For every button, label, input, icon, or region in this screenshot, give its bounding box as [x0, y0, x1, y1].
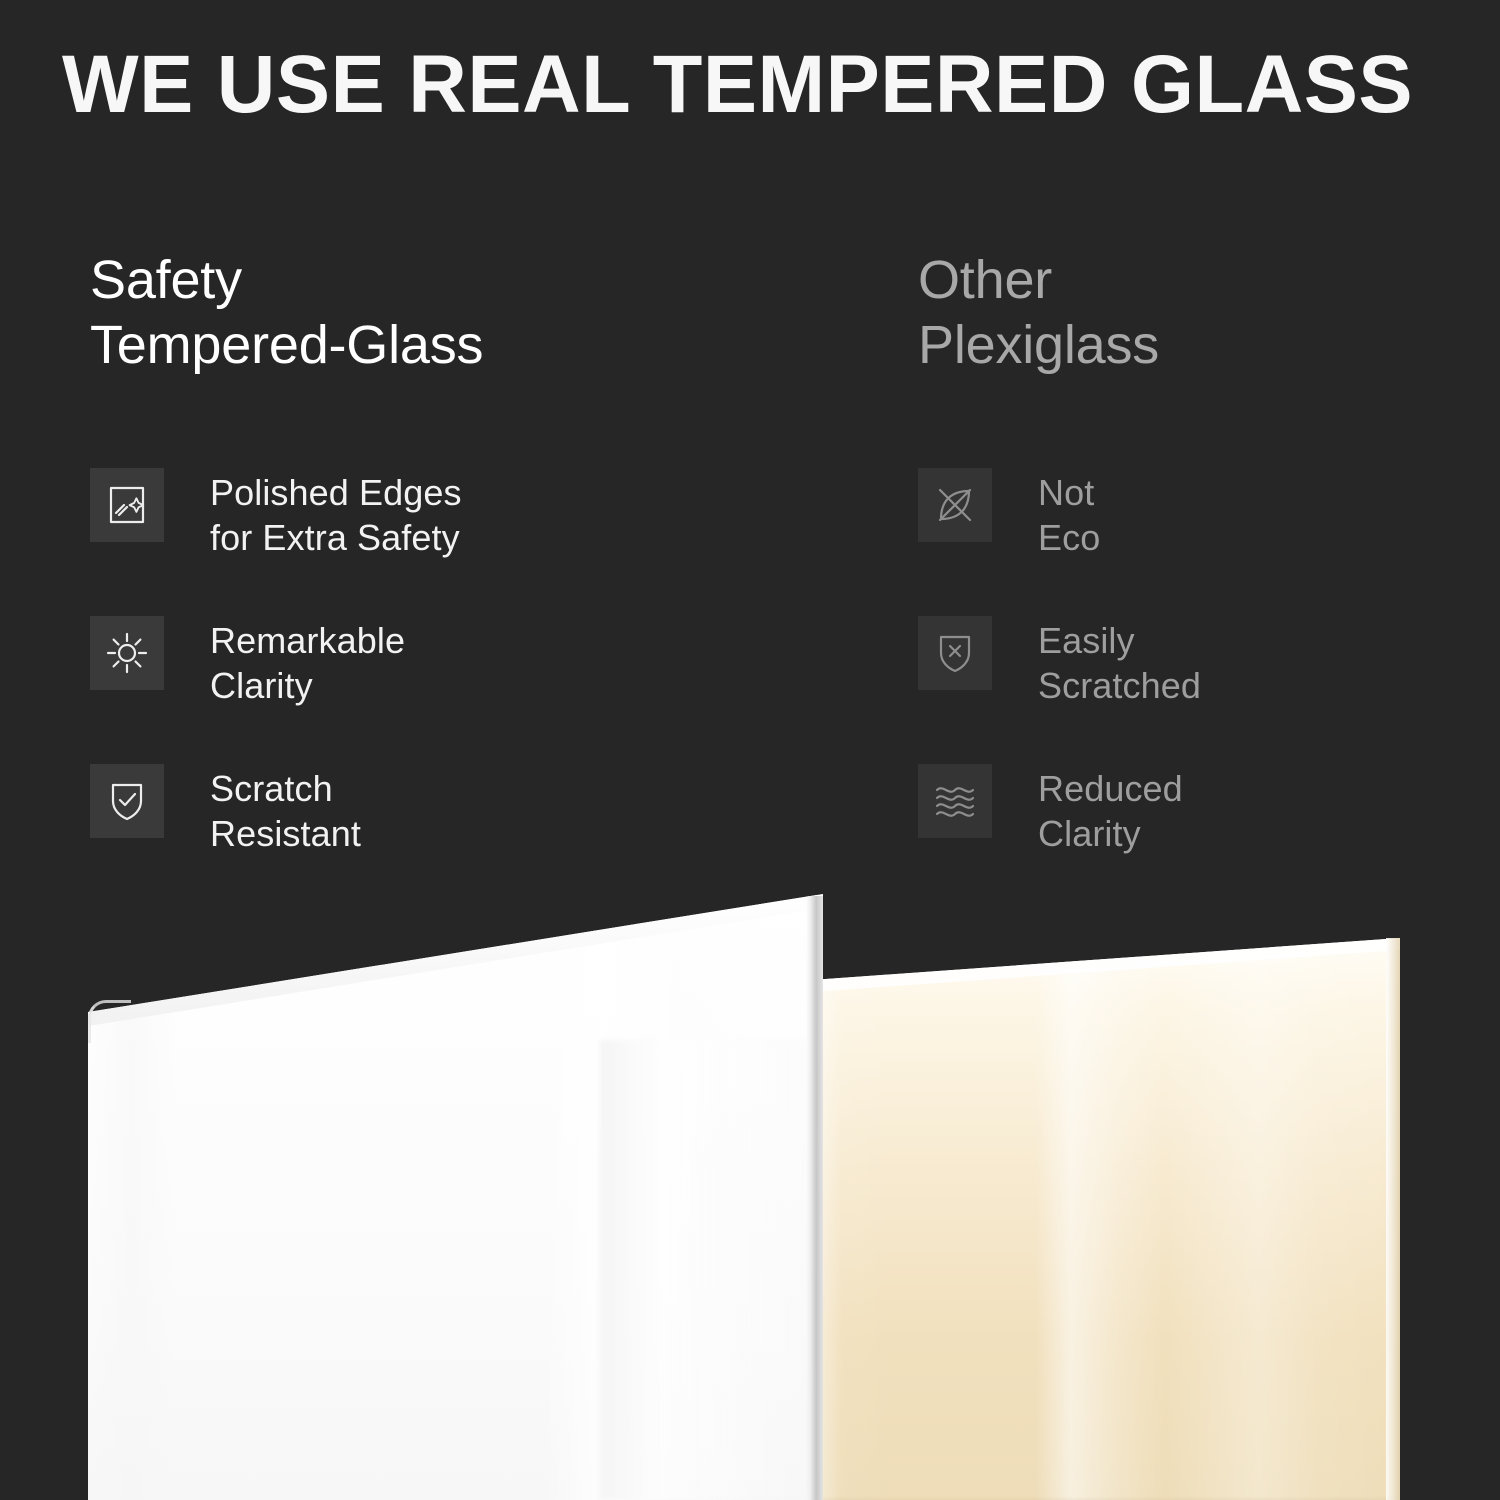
shield-check-icon	[90, 764, 164, 838]
sun-brightness-icon	[90, 616, 164, 690]
column-heading-left: Safety Tempered-Glass	[90, 248, 850, 379]
polished-edge-sparkle-icon	[90, 468, 164, 542]
tempered-glass-right-edge	[806, 896, 823, 1500]
page-title: WE USE REAL TEMPERED GLASS	[62, 44, 1438, 126]
column-other-plexiglass: Other Plexiglass Not Eco	[918, 248, 1458, 379]
leaf-slash-icon	[918, 468, 992, 542]
feature-label: Remarkable Clarity	[210, 614, 405, 709]
feature-label: Reduced Clarity	[1038, 762, 1183, 857]
wavy-lines-icon	[918, 764, 992, 838]
tempered-glass-reflection	[600, 1040, 805, 1500]
product-comparison-photo	[0, 880, 1500, 1500]
tempered-glass-rounded-corner	[88, 1000, 131, 1043]
feature-label: Scratch Resistant	[210, 762, 361, 857]
column-heading-right: Other Plexiglass	[918, 248, 1458, 379]
feature-label: Polished Edges for Extra Safety	[210, 466, 462, 561]
feature-row: Polished Edges for Extra Safety	[90, 466, 850, 614]
feature-label: Not Eco	[1038, 466, 1100, 561]
feature-label: Easily Scratched	[1038, 614, 1201, 709]
plexiglass-panel-right-edge	[1386, 938, 1400, 1500]
feature-row: Easily Scratched	[918, 614, 1458, 762]
feature-row: Remarkable Clarity	[90, 614, 850, 762]
column-safety-tempered-glass: Safety Tempered-Glass Polished Edges for…	[90, 248, 850, 379]
plexiglass-panel	[812, 938, 1400, 1500]
infographic-canvas: WE USE REAL TEMPERED GLASS Safety Temper…	[0, 0, 1500, 1500]
feature-list-left: Polished Edges for Extra Safety Remarkab…	[90, 466, 850, 910]
feature-list-right: Not Eco Easily Scratched	[918, 466, 1458, 910]
shield-x-icon	[918, 616, 992, 690]
feature-row: Not Eco	[918, 466, 1458, 614]
